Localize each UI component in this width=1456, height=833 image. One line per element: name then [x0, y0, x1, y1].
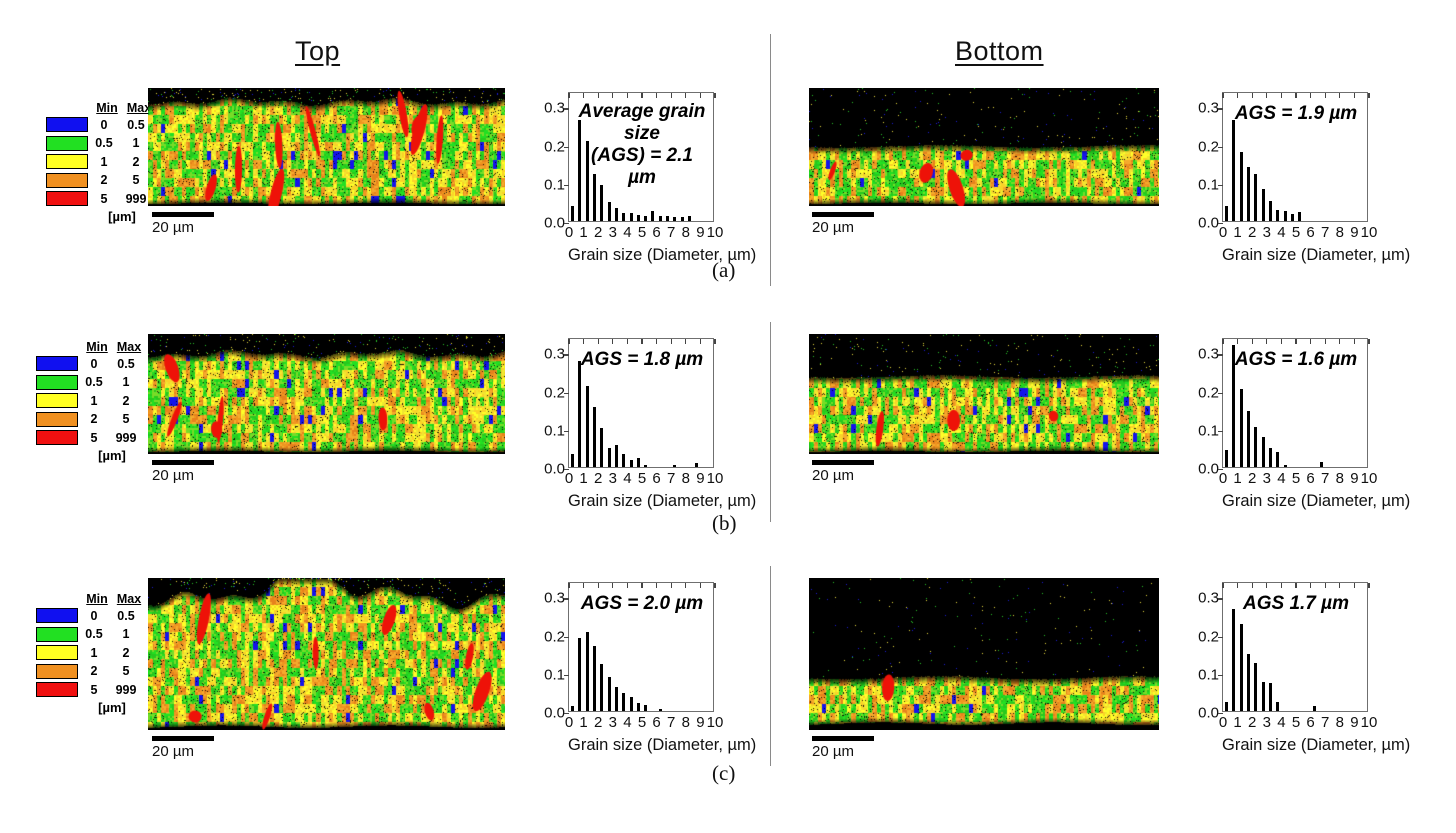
x-tick-label: 4: [1277, 711, 1285, 731]
x-tick-label: 5: [638, 711, 646, 731]
x-tick-mark: [714, 339, 715, 344]
legend-min-value: 0.5: [78, 375, 110, 389]
legend-min-value: 5: [88, 192, 120, 206]
legend-min-value: 1: [78, 394, 110, 408]
x-tick-label: 2: [1248, 221, 1256, 241]
legend-row: 5999: [36, 681, 148, 698]
histogram-bar: [1262, 189, 1265, 221]
x-tick-label: 5: [638, 467, 646, 487]
legend-unit-label: [µm]: [76, 700, 148, 715]
plot-area: 0.00.10.20.3012345678910AGS = 1.9 µm: [1222, 92, 1368, 222]
ags-annotation: AGS = 1.9 µm: [1229, 103, 1363, 125]
x-tick-mark: [671, 93, 672, 98]
x-tick-label: 1: [1233, 221, 1241, 241]
x-tick-mark: [1339, 93, 1340, 98]
legend-swatch-3: [36, 664, 78, 679]
x-tick-label: 0: [565, 221, 573, 241]
histogram-bar: [630, 697, 633, 711]
x-tick-mark: [641, 339, 642, 344]
x-tick-mark: [568, 93, 569, 98]
y-tick-mark: [564, 185, 569, 186]
x-tick-label: 10: [707, 711, 724, 731]
ebsd-map-canvas: [148, 334, 505, 454]
x-tick-mark: [1339, 339, 1340, 344]
legend-row: 5999: [36, 429, 148, 446]
histogram-bar: [673, 465, 676, 467]
histogram-bar: [1269, 683, 1272, 711]
histogram-bar: [600, 664, 603, 711]
x-tick-label: 5: [638, 221, 646, 241]
x-tick-mark: [1281, 93, 1282, 98]
x-tick-mark: [612, 583, 613, 588]
x-tick-mark: [1310, 339, 1311, 344]
histogram-bar: [586, 632, 589, 711]
legend-min-value: 1: [78, 646, 110, 660]
x-tick-mark: [1281, 583, 1282, 588]
ebsd-map-b-top: [148, 334, 505, 454]
x-tick-label: 0: [1219, 467, 1227, 487]
y-tick-mark: [564, 354, 569, 355]
scale-bar-b-bottom: 20 µm: [812, 460, 874, 484]
x-tick-label: 0: [565, 711, 573, 731]
ebsd-map-c-bottom: [809, 578, 1159, 730]
scale-bar-line: [812, 736, 874, 741]
legend-row: 12: [36, 392, 148, 409]
scale-bar-line: [152, 460, 214, 465]
legend-row: 25: [36, 663, 148, 680]
scale-bar-a-bottom: 20 µm: [812, 212, 874, 236]
legend-swatch-1: [46, 136, 88, 151]
y-tick-mark: [1218, 108, 1223, 109]
x-tick-label: 6: [652, 467, 660, 487]
histogram-bar: [1254, 663, 1257, 711]
x-tick-label: 4: [1277, 221, 1285, 241]
x-tick-label: 10: [707, 221, 724, 241]
x-axis-label: Grain size (Diameter, µm): [1222, 736, 1368, 755]
x-tick-mark: [583, 583, 584, 588]
x-tick-label: 7: [1321, 221, 1329, 241]
x-tick-mark: [1310, 93, 1311, 98]
x-tick-label: 5: [1292, 467, 1300, 487]
scale-bar-b-top: 20 µm: [152, 460, 214, 484]
plot-area: 0.00.10.20.3012345678910AGS = 2.0 µm: [568, 582, 714, 712]
y-tick-mark: [1218, 637, 1223, 638]
histogram-bar: [1240, 624, 1243, 711]
histogram-bar: [651, 211, 654, 221]
legend-max-value: 5: [110, 412, 142, 426]
legend-swatch-4: [46, 191, 88, 206]
x-tick-mark: [1281, 339, 1282, 344]
x-tick-label: 8: [682, 467, 690, 487]
x-tick-label: 0: [565, 467, 573, 487]
histogram-b-bottom: Area Fraction0.00.10.20.3012345678910AGS…: [1182, 338, 1368, 468]
x-tick-label: 9: [1350, 221, 1358, 241]
x-tick-mark: [641, 93, 642, 98]
legend-swatch-4: [36, 430, 78, 445]
x-tick-label: 6: [1306, 467, 1314, 487]
x-axis-label: Grain size (Diameter, µm): [568, 492, 714, 511]
x-tick-mark: [612, 339, 613, 344]
histogram-bar: [1240, 152, 1243, 221]
x-tick-label: 4: [1277, 467, 1285, 487]
x-tick-label: 1: [579, 711, 587, 731]
histogram-bar: [630, 213, 633, 221]
legend-max-value: 999: [110, 431, 142, 445]
x-tick-label: 2: [594, 221, 602, 241]
legend-max-value: 1: [110, 627, 142, 641]
x-tick-label: 9: [696, 467, 704, 487]
scale-bar-label: 20 µm: [812, 743, 874, 760]
x-tick-mark: [1354, 583, 1355, 588]
legend-max-value: 5: [110, 664, 142, 678]
column-header-bottom: Bottom: [955, 36, 1044, 67]
x-tick-label: 4: [623, 467, 631, 487]
x-tick-label: 2: [594, 467, 602, 487]
x-tick-mark: [1237, 583, 1238, 588]
x-tick-label: 0: [1219, 711, 1227, 731]
x-tick-mark: [627, 93, 628, 98]
x-tick-mark: [1325, 93, 1326, 98]
y-tick-mark: [564, 108, 569, 109]
legend-header-min: Min: [81, 592, 113, 606]
x-tick-mark: [1339, 583, 1340, 588]
x-tick-mark: [1252, 583, 1253, 588]
legend-row: 0.51: [36, 374, 148, 391]
legend-min-value: 1: [88, 155, 120, 169]
histogram-bar: [688, 216, 691, 221]
x-tick-label: 6: [652, 711, 660, 731]
scale-bar-line: [812, 460, 874, 465]
x-tick-mark: [1252, 93, 1253, 98]
x-tick-label: 7: [667, 467, 675, 487]
x-tick-mark: [1266, 339, 1267, 344]
scale-bar-label: 20 µm: [812, 467, 874, 484]
x-tick-label: 5: [1292, 221, 1300, 241]
x-tick-mark: [1295, 93, 1296, 98]
scale-bar-c-top: 20 µm: [152, 736, 214, 760]
x-tick-label: 9: [1350, 467, 1358, 487]
histogram-bar: [615, 687, 618, 711]
ags-annotation: AGS = 1.8 µm: [575, 349, 709, 371]
y-tick-mark: [564, 147, 569, 148]
x-tick-label: 8: [682, 711, 690, 731]
histogram-bar: [1247, 654, 1250, 711]
legend-max-value: 1: [110, 375, 142, 389]
histogram-bar: [681, 217, 684, 221]
x-tick-mark: [583, 339, 584, 344]
scale-bar-a-top: 20 µm: [152, 212, 214, 236]
y-tick-mark: [564, 431, 569, 432]
ebsd-map-canvas: [809, 88, 1159, 206]
ebsd-map-b-bottom: [809, 334, 1159, 454]
ebsd-map-a-bottom: [809, 88, 1159, 206]
x-tick-mark: [700, 93, 701, 98]
x-tick-label: 9: [696, 221, 704, 241]
ebsd-map-canvas: [148, 88, 505, 206]
legend-min-value: 2: [88, 173, 120, 187]
legend-swatch-2: [36, 645, 78, 660]
x-tick-mark: [1266, 583, 1267, 588]
legend-header-min: Min: [91, 101, 123, 115]
histogram-bar: [1232, 120, 1235, 221]
legend-row: 25: [36, 411, 148, 428]
y-tick-mark: [1218, 147, 1223, 148]
scale-bar-label: 20 µm: [152, 743, 214, 760]
x-tick-label: 10: [1361, 221, 1378, 241]
ags-annotation: AGS 1.7 µm: [1229, 593, 1363, 615]
scale-bar-c-bottom: 20 µm: [812, 736, 874, 760]
ags-annotation: AGS = 1.6 µm: [1229, 349, 1363, 371]
histogram-bar: [1269, 448, 1272, 467]
x-tick-mark: [714, 583, 715, 588]
x-tick-label: 1: [1233, 711, 1241, 731]
x-tick-label: 6: [1306, 221, 1314, 241]
legend-header-max: Max: [113, 592, 145, 606]
legend-swatch-0: [46, 117, 88, 132]
row-label-b: (b): [712, 511, 737, 536]
x-tick-mark: [627, 339, 628, 344]
x-tick-label: 2: [1248, 711, 1256, 731]
x-tick-mark: [1368, 93, 1369, 98]
histogram-bar: [1225, 206, 1228, 221]
legend-swatch-1: [36, 375, 78, 390]
legend-swatch-0: [36, 356, 78, 371]
x-tick-label: 3: [1263, 221, 1271, 241]
histogram-bar: [644, 705, 647, 712]
histogram-bar: [593, 407, 596, 467]
legend-min-value: 0: [88, 118, 120, 132]
histogram-bar: [608, 677, 611, 711]
histogram-bar: [637, 215, 640, 221]
x-tick-mark: [1222, 93, 1223, 98]
histogram-bar: [1276, 210, 1279, 221]
ebsd-map-canvas: [809, 578, 1159, 730]
legend-unit-label: [µm]: [76, 448, 148, 463]
x-tick-label: 2: [1248, 467, 1256, 487]
x-tick-label: 4: [623, 221, 631, 241]
x-tick-mark: [685, 93, 686, 98]
histogram-bar: [1284, 465, 1287, 467]
x-tick-mark: [598, 93, 599, 98]
legend-row: 00.5: [46, 116, 158, 133]
legend-min-value: 0: [78, 357, 110, 371]
x-tick-label: 9: [1350, 711, 1358, 731]
legend-row: 12: [46, 153, 158, 170]
histogram-bar: [615, 445, 618, 467]
x-tick-mark: [568, 339, 569, 344]
scale-bar-line: [152, 736, 214, 741]
legend-max-value: 2: [110, 646, 142, 660]
x-tick-label: 4: [623, 711, 631, 731]
column-divider-c: [770, 566, 771, 766]
x-axis-label: Grain size (Diameter, µm): [1222, 246, 1368, 265]
scale-bar-label: 20 µm: [152, 219, 214, 236]
histogram-bar: [1284, 211, 1287, 221]
histogram-bar: [578, 638, 581, 711]
x-tick-mark: [598, 583, 599, 588]
x-tick-mark: [685, 583, 686, 588]
x-tick-mark: [1368, 583, 1369, 588]
histogram-bar: [644, 465, 647, 467]
legend-row: 0.51: [36, 626, 148, 643]
histogram-bar: [600, 185, 603, 221]
histogram-bar: [571, 706, 574, 711]
x-tick-label: 8: [682, 221, 690, 241]
x-tick-mark: [685, 339, 686, 344]
histogram-bar: [622, 454, 625, 467]
histogram-bar: [659, 709, 662, 711]
plot-area: 0.00.10.20.3012345678910Average grain si…: [568, 92, 714, 222]
x-tick-label: 6: [652, 221, 660, 241]
x-tick-mark: [1237, 339, 1238, 344]
histogram-bar: [622, 213, 625, 221]
y-tick-mark: [1218, 598, 1223, 599]
histogram-bar: [630, 460, 633, 467]
legend-min-value: 5: [78, 683, 110, 697]
x-tick-mark: [656, 339, 657, 344]
legend-max-value: 2: [110, 394, 142, 408]
legend-row: 0.51: [46, 135, 158, 152]
histogram-bar: [571, 454, 574, 467]
x-tick-mark: [583, 93, 584, 98]
histogram-bar: [1269, 201, 1272, 221]
histogram-bar: [1276, 702, 1279, 711]
histogram-bar: [673, 217, 676, 221]
scale-bar-line: [812, 212, 874, 217]
histogram-bar: [571, 206, 574, 221]
plot-area: 0.00.10.20.3012345678910AGS = 1.6 µm: [1222, 338, 1368, 468]
x-tick-label: 7: [1321, 467, 1329, 487]
legend-swatch-4: [36, 682, 78, 697]
histogram-bar: [1232, 609, 1235, 711]
legend-header: MinMax: [81, 592, 148, 606]
x-tick-label: 2: [594, 711, 602, 731]
x-tick-label: 3: [609, 221, 617, 241]
histogram-bar: [666, 216, 669, 221]
x-tick-label: 6: [1306, 711, 1314, 731]
y-tick-mark: [564, 598, 569, 599]
legend-max-value: 999: [110, 683, 142, 697]
legend-swatch-2: [36, 393, 78, 408]
histogram-bar: [1247, 167, 1250, 221]
ags-annotation: AGS = 2.0 µm: [575, 593, 709, 615]
legend-row: 12: [36, 644, 148, 661]
x-tick-label: 1: [1233, 467, 1241, 487]
x-tick-mark: [714, 93, 715, 98]
legend-header-min: Min: [81, 340, 113, 354]
x-tick-mark: [1237, 93, 1238, 98]
x-tick-label: 8: [1336, 467, 1344, 487]
x-tick-mark: [1222, 583, 1223, 588]
legend-min-value: 0.5: [88, 136, 120, 150]
x-tick-label: 7: [667, 711, 675, 731]
legend-unit-label: [µm]: [86, 209, 158, 224]
row-label-c: (c): [712, 761, 735, 786]
x-axis-label: Grain size (Diameter, µm): [568, 736, 714, 755]
x-tick-mark: [1222, 339, 1223, 344]
legend-header-max: Max: [113, 340, 145, 354]
legend-swatch-1: [36, 627, 78, 642]
histogram-bar: [1313, 706, 1316, 711]
y-tick-mark: [564, 393, 569, 394]
legend-row: 00.5: [36, 607, 148, 624]
histogram-bar: [608, 202, 611, 221]
scale-bar-label: 20 µm: [152, 467, 214, 484]
histogram-bar: [600, 428, 603, 467]
x-tick-mark: [1295, 583, 1296, 588]
histogram-bar: [1225, 450, 1228, 467]
legend-min-value: 0.5: [78, 627, 110, 641]
y-tick-mark: [564, 637, 569, 638]
x-tick-mark: [641, 583, 642, 588]
x-tick-label: 0: [1219, 221, 1227, 241]
scale-bar-label: 20 µm: [812, 219, 874, 236]
histogram-bar: [1262, 437, 1265, 467]
x-tick-mark: [1354, 93, 1355, 98]
legend-min-value: 2: [78, 412, 110, 426]
plot-area: 0.00.10.20.3012345678910AGS 1.7 µm: [1222, 582, 1368, 712]
x-tick-label: 5: [1292, 711, 1300, 731]
ebsd-map-c-top: [148, 578, 505, 730]
x-tick-mark: [568, 583, 569, 588]
x-tick-label: 10: [707, 467, 724, 487]
histogram-a-bottom: Area Fraction0.00.10.20.3012345678910AGS…: [1182, 92, 1368, 222]
column-divider-b: [770, 322, 771, 522]
x-tick-label: 3: [1263, 711, 1271, 731]
histogram-bar: [644, 216, 647, 221]
x-tick-label: 7: [667, 221, 675, 241]
x-tick-label: 1: [579, 467, 587, 487]
legend-min-value: 5: [78, 431, 110, 445]
x-tick-mark: [612, 93, 613, 98]
ebsd-map-a-top: [148, 88, 505, 206]
x-tick-label: 3: [609, 467, 617, 487]
y-tick-mark: [564, 675, 569, 676]
histogram-bar: [1225, 702, 1228, 711]
x-tick-mark: [1295, 339, 1296, 344]
legend-swatch-3: [36, 412, 78, 427]
legend-max-value: 0.5: [110, 609, 142, 623]
histogram-bar: [1247, 411, 1250, 467]
y-tick-mark: [1218, 393, 1223, 394]
column-divider-a: [770, 34, 771, 286]
x-tick-mark: [1266, 93, 1267, 98]
histogram-bar: [695, 463, 698, 467]
x-tick-mark: [1325, 339, 1326, 344]
column-header-top: Top: [295, 36, 340, 67]
plot-area: 0.00.10.20.3012345678910AGS = 1.8 µm: [568, 338, 714, 468]
x-tick-mark: [700, 583, 701, 588]
histogram-bar: [1298, 212, 1301, 221]
histogram-bar: [615, 208, 618, 221]
x-tick-mark: [1354, 339, 1355, 344]
x-tick-mark: [1325, 583, 1326, 588]
legend-max-value: 0.5: [110, 357, 142, 371]
x-tick-label: 1: [579, 221, 587, 241]
histogram-bar: [1240, 389, 1243, 467]
histogram-bar: [637, 703, 640, 711]
x-tick-label: 10: [1361, 467, 1378, 487]
legend-row: 5999: [46, 190, 158, 207]
x-tick-mark: [1252, 339, 1253, 344]
histogram-bar: [1262, 682, 1265, 711]
histogram-bar: [622, 693, 625, 711]
scale-bar-line: [152, 212, 214, 217]
x-tick-mark: [656, 583, 657, 588]
histogram-a-top: Area Fraction0.00.10.20.3012345678910Ave…: [528, 92, 714, 222]
histogram-c-bottom: Area Fraction0.00.10.20.3012345678910AGS…: [1182, 582, 1368, 712]
x-tick-label: 7: [1321, 711, 1329, 731]
